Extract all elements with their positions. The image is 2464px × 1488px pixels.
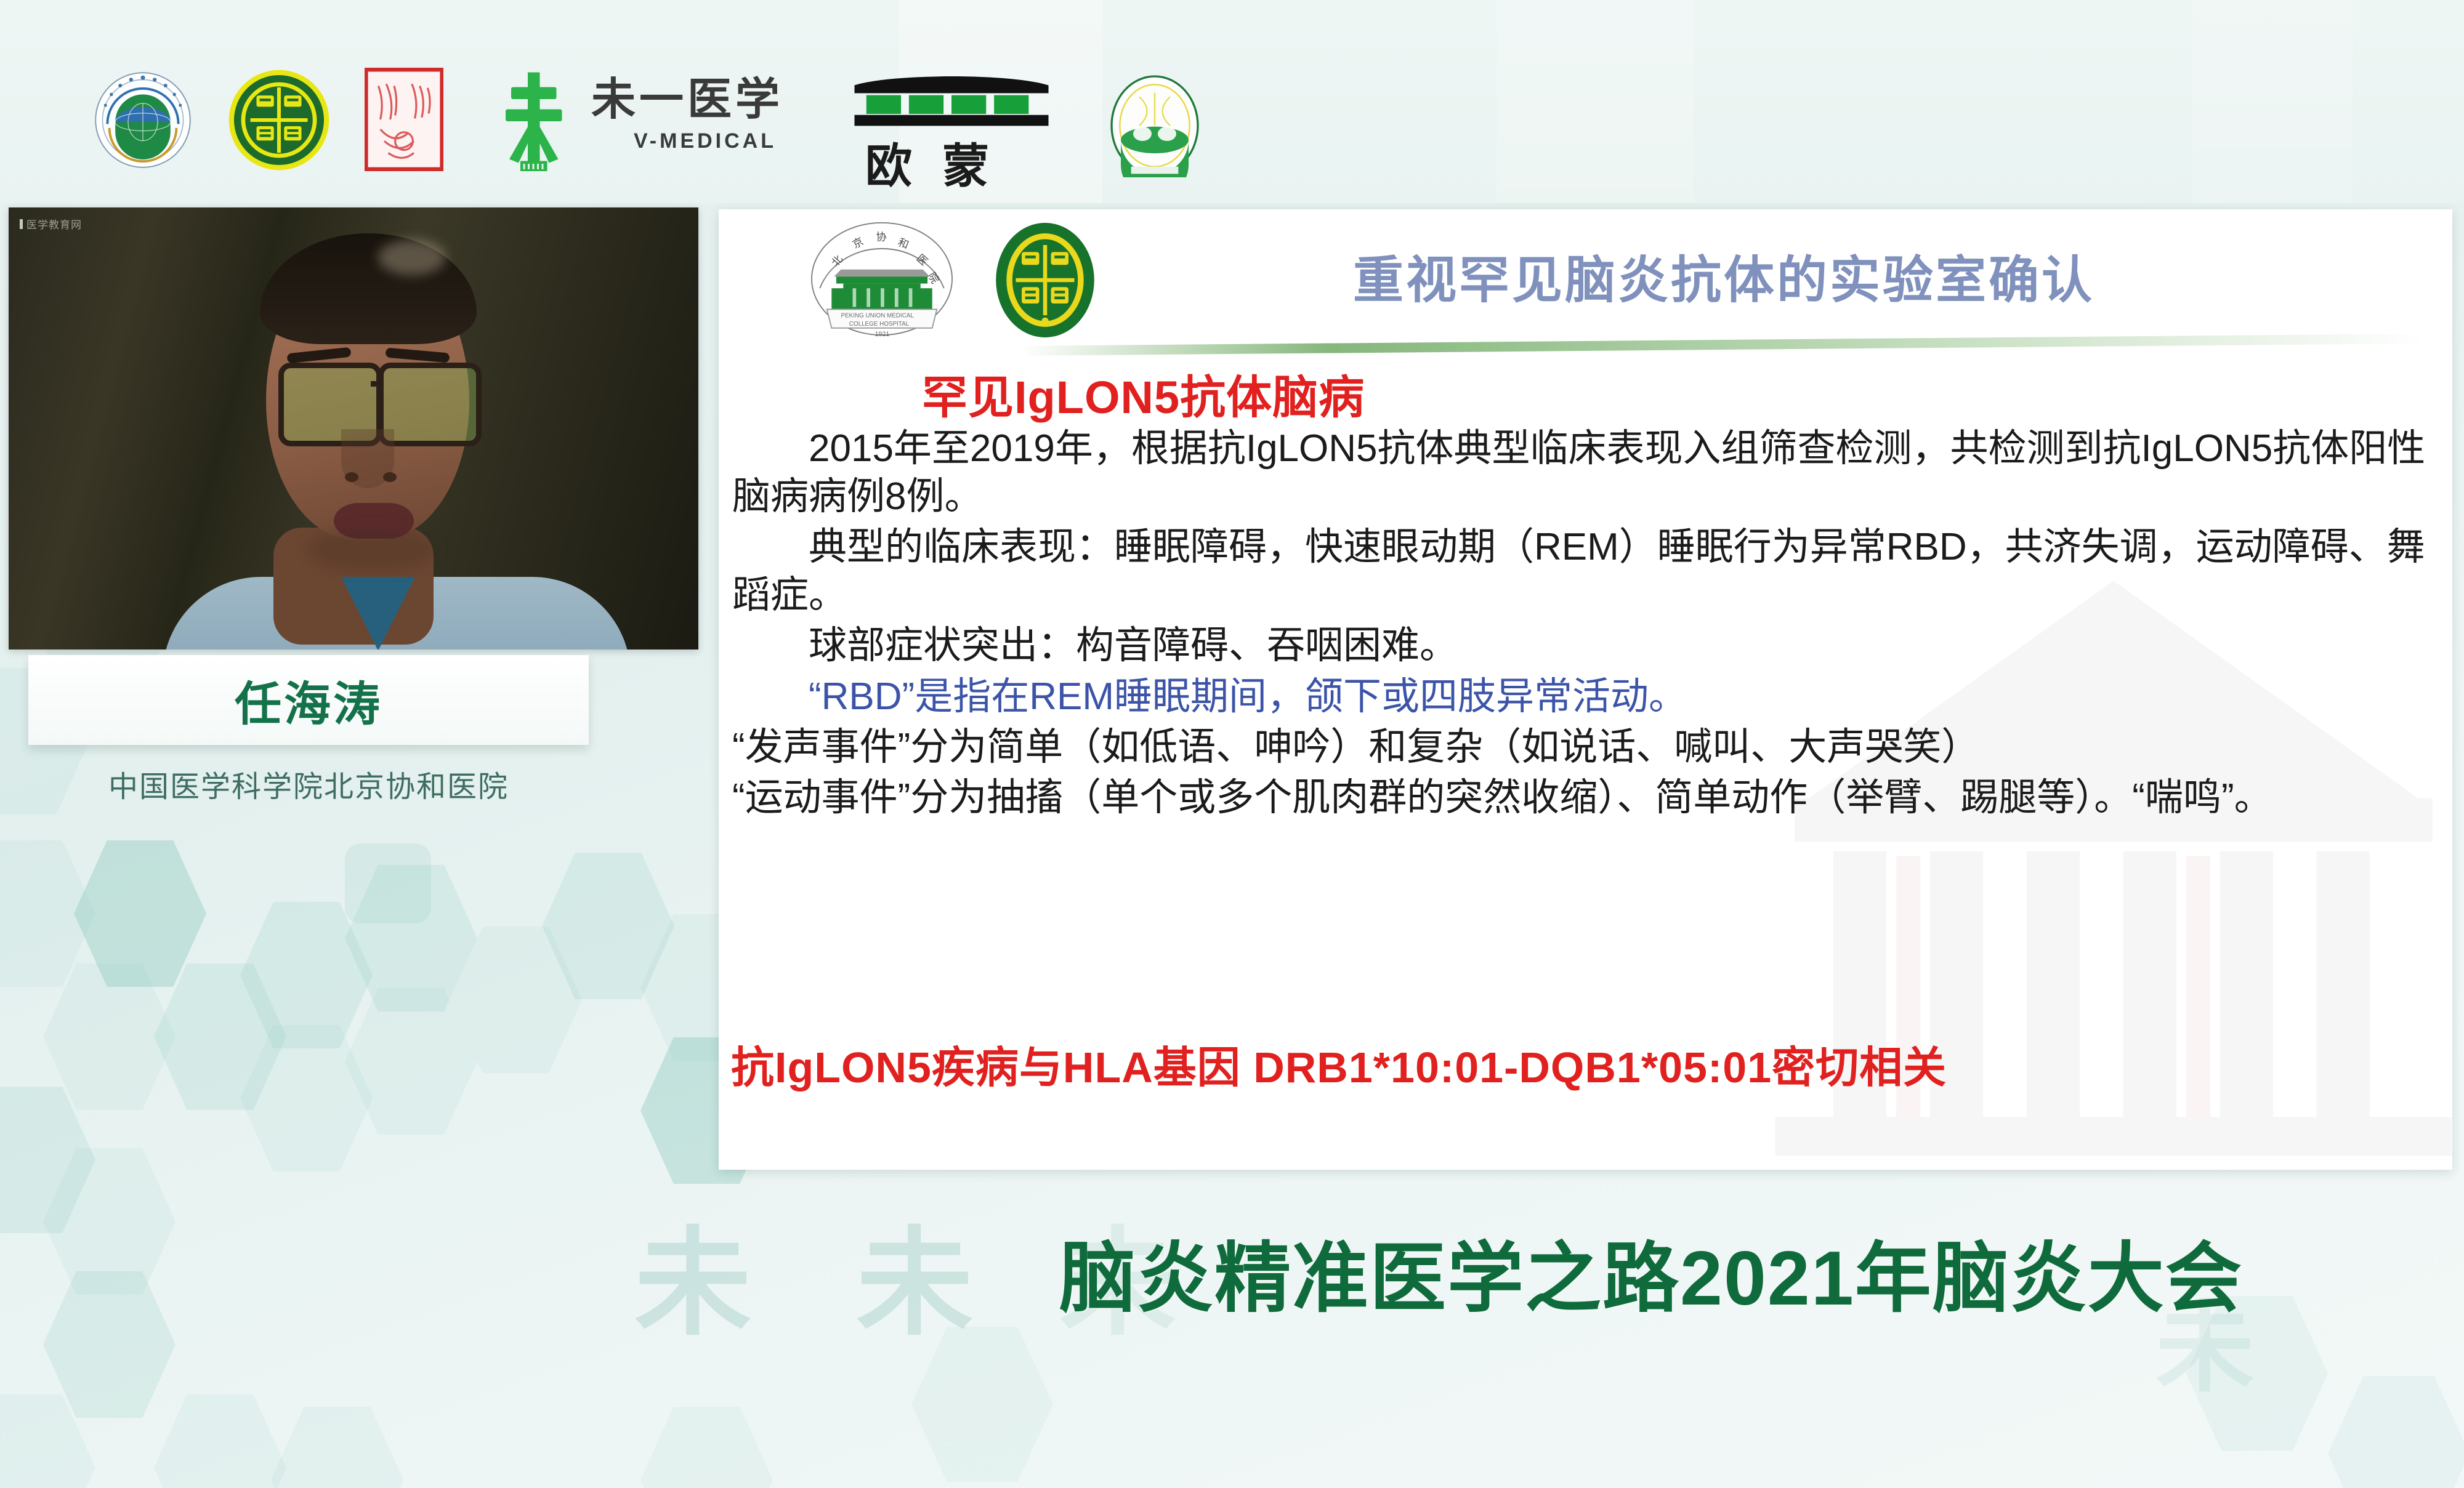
speaker-video-tile[interactable]: 医学教育网 [9,207,698,649]
speaker-nostril-left [345,472,358,482]
svg-text:京: 京 [850,235,865,251]
slide-paragraph-rbd: “RBD”是指在REM睡眠期间，颌下或四肢异常活动。 [732,673,2441,721]
slide-section-heading: 罕见IgLON5抗体脑病 [922,361,1365,427]
watermark-bar-icon [20,219,23,229]
presentation-slide: 北 京 协 和 医 院 [719,209,2452,1170]
slide-body: 2015年至2019年，根据抗IgLON5抗体典型临床表现入组筛查检测，共检测到… [732,425,2441,824]
euromun-gate-mark-icon [850,71,1053,127]
conference-banner: 脑炎精准医学之路2021年脑炎大会 [1059,1216,2457,1327]
v-medical-cn-label: 未一医学 [591,78,819,122]
slide-paragraph: “发声事件”分为简单（如低语、呻吟）和复杂（如说话、喊叫、大声哭笑） [732,723,2441,771]
slide-paragraph: 球部症状突出：构音障碍、吞咽困难。 [732,622,2441,670]
crest-motto-line1: PEKING UNION MEDICAL [841,313,915,320]
speaker-chin-shadow [308,528,437,571]
slide-title: 重视罕见脑炎抗体的实验室确认 [1353,239,2094,312]
slide-header-rule [1020,334,2425,356]
china-cdc-globe-emblem-icon [94,71,192,169]
slide-paragraph: 2015年至2019年，根据抗IgLON5抗体典型临床表现入组筛查检测，共检测到… [732,425,2441,521]
v-medical-en-label: V-MEDICAL [591,129,819,153]
red-seal-stamp-icon [365,68,443,171]
slide-footer-red: 抗IgLON5疾病与HLA基因 DRB1*10:01-DQB1*05:01密切相… [731,1033,2440,1095]
crest-motto-line2: COLLEGE HOSPITAL [849,321,910,328]
conference-banner-title: 脑炎精准医学之路2021年脑炎大会 [1059,1216,2243,1327]
euromun-cn-label: 欧 蒙 [865,128,998,196]
speaker-affiliation: 中国医学科学院北京协和医院 [28,762,589,805]
video-watermark: 医学教育网 [20,216,82,231]
speaker-hair-highlight [378,239,446,275]
speaker-nostril-right [383,472,397,482]
wei-watermark: 未 [634,1188,751,1357]
speaker-name: 任海涛 [235,666,382,734]
svg-text:和: 和 [896,236,910,251]
wei-watermark: 未 [856,1188,973,1357]
speaker-name-plate: 任海涛 [28,655,589,745]
crest-year: 1921 [875,331,890,337]
svg-text:院: 院 [926,270,941,286]
slide-header: 北 京 协 和 医 院 [719,209,2452,332]
logo-bar: 未一医学 V-MEDICAL 欧 蒙 [0,0,2464,203]
cams-green-gold-oval-seal-icon [990,222,1101,339]
svg-text:协: 协 [876,231,887,243]
pumch-green-gold-roundel-icon [228,69,330,171]
speaker-glasses-bridge [371,381,383,387]
weiyi-tree-mark-icon [496,66,570,172]
slide-paragraph: “运动事件”分为抽搐（单个或多个肌肉群的突然收缩）、简单动作（举臂、踢腿等）。“… [732,774,2441,822]
video-watermark-label: 医学教育网 [26,216,82,231]
slide-paragraph: 典型的临床表现：睡眠障碍，快速眼动期（REM）睡眠行为异常RBD，共济失调，运动… [732,523,2441,619]
svg-text:北: 北 [830,253,846,268]
pumch-gate-crest-icon: 北 京 协 和 医 院 [805,220,959,337]
yizhiyuan-oval-emblem-icon [1109,74,1201,177]
v-medical-wordmark: 未一医学 V-MEDICAL [591,78,819,170]
